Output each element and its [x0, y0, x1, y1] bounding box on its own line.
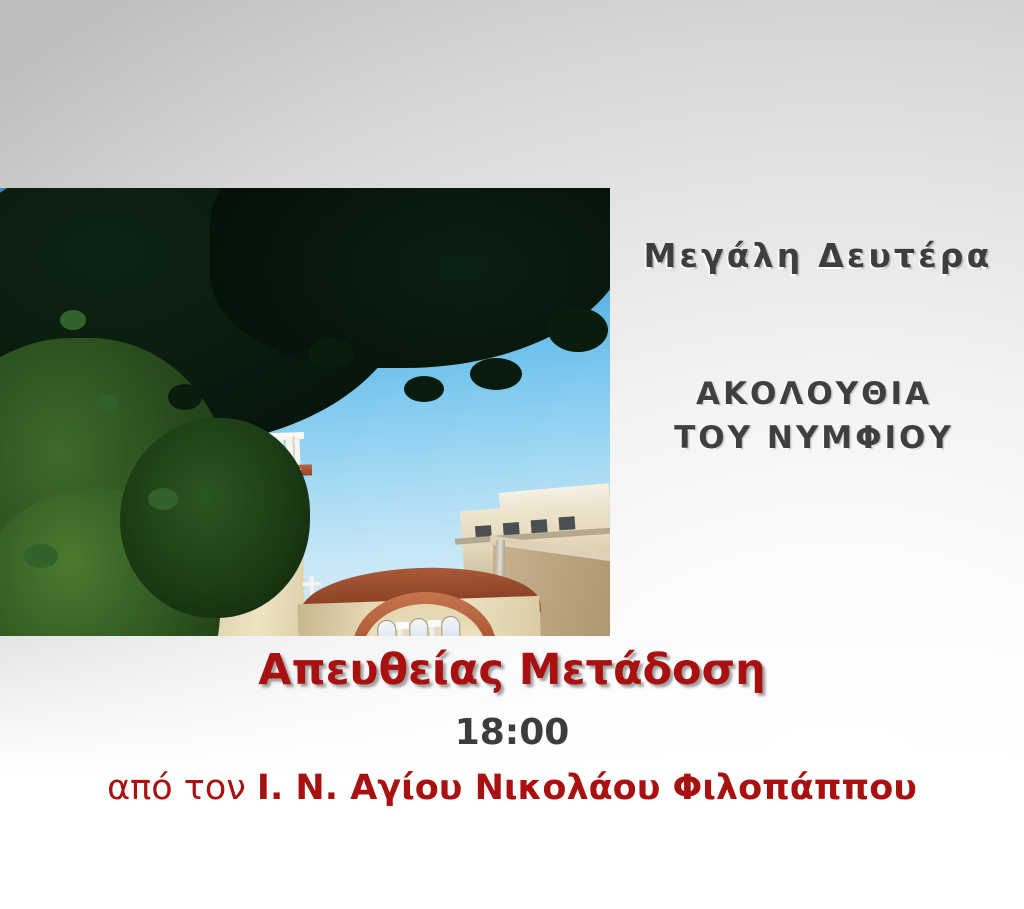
facade-mullion-capital-2 — [428, 620, 441, 627]
tree-sprig-1 — [168, 384, 202, 410]
tree-sprig-3 — [404, 376, 444, 402]
tree-sprig-4 — [470, 358, 522, 390]
tree-sprig-lit-1 — [60, 310, 86, 330]
announcement-slide: Μεγάλη Δευτέρα ΑΚΟΛΟΥΘΙΑ ΤΟΥ ΝΥΜΦΙΟΥ Απε… — [0, 0, 1024, 909]
tree-canopy-mid — [120, 418, 310, 618]
broadcast-time: 18:00 — [0, 712, 1024, 753]
broadcast-origin-prefix: από τον — [107, 768, 257, 808]
broadcast-origin: από τον Ι. Ν. Αγίου Νικολάου Φιλοπάππου — [0, 768, 1024, 808]
heading-service-line2: ΤΟΥ ΝΥΜΦΙΟΥ — [612, 416, 1016, 460]
tree-sprig-2 — [308, 338, 354, 368]
church-photo — [0, 188, 610, 636]
tree-sprig-lit-2 — [96, 394, 118, 412]
facade-mullion-capital-1 — [396, 622, 409, 629]
broadcast-origin-church: Ι. Ν. Αγίου Νικολάου Φιλοπάππου — [257, 768, 917, 808]
live-broadcast-label: Απευθείας Μετάδοση — [0, 645, 1024, 695]
tree-sprig-lit-3 — [148, 488, 178, 510]
heading-day: Μεγάλη Δευτέρα — [620, 236, 1016, 275]
heading-service: ΑΚΟΛΟΥΘΙΑ ΤΟΥ ΝΥΜΦΙΟΥ — [612, 372, 1016, 460]
heading-service-line1: ΑΚΟΛΟΥΘΙΑ — [696, 376, 932, 412]
tree-sprig-5 — [548, 308, 608, 352]
tree-sprig-lit-4 — [24, 544, 58, 568]
